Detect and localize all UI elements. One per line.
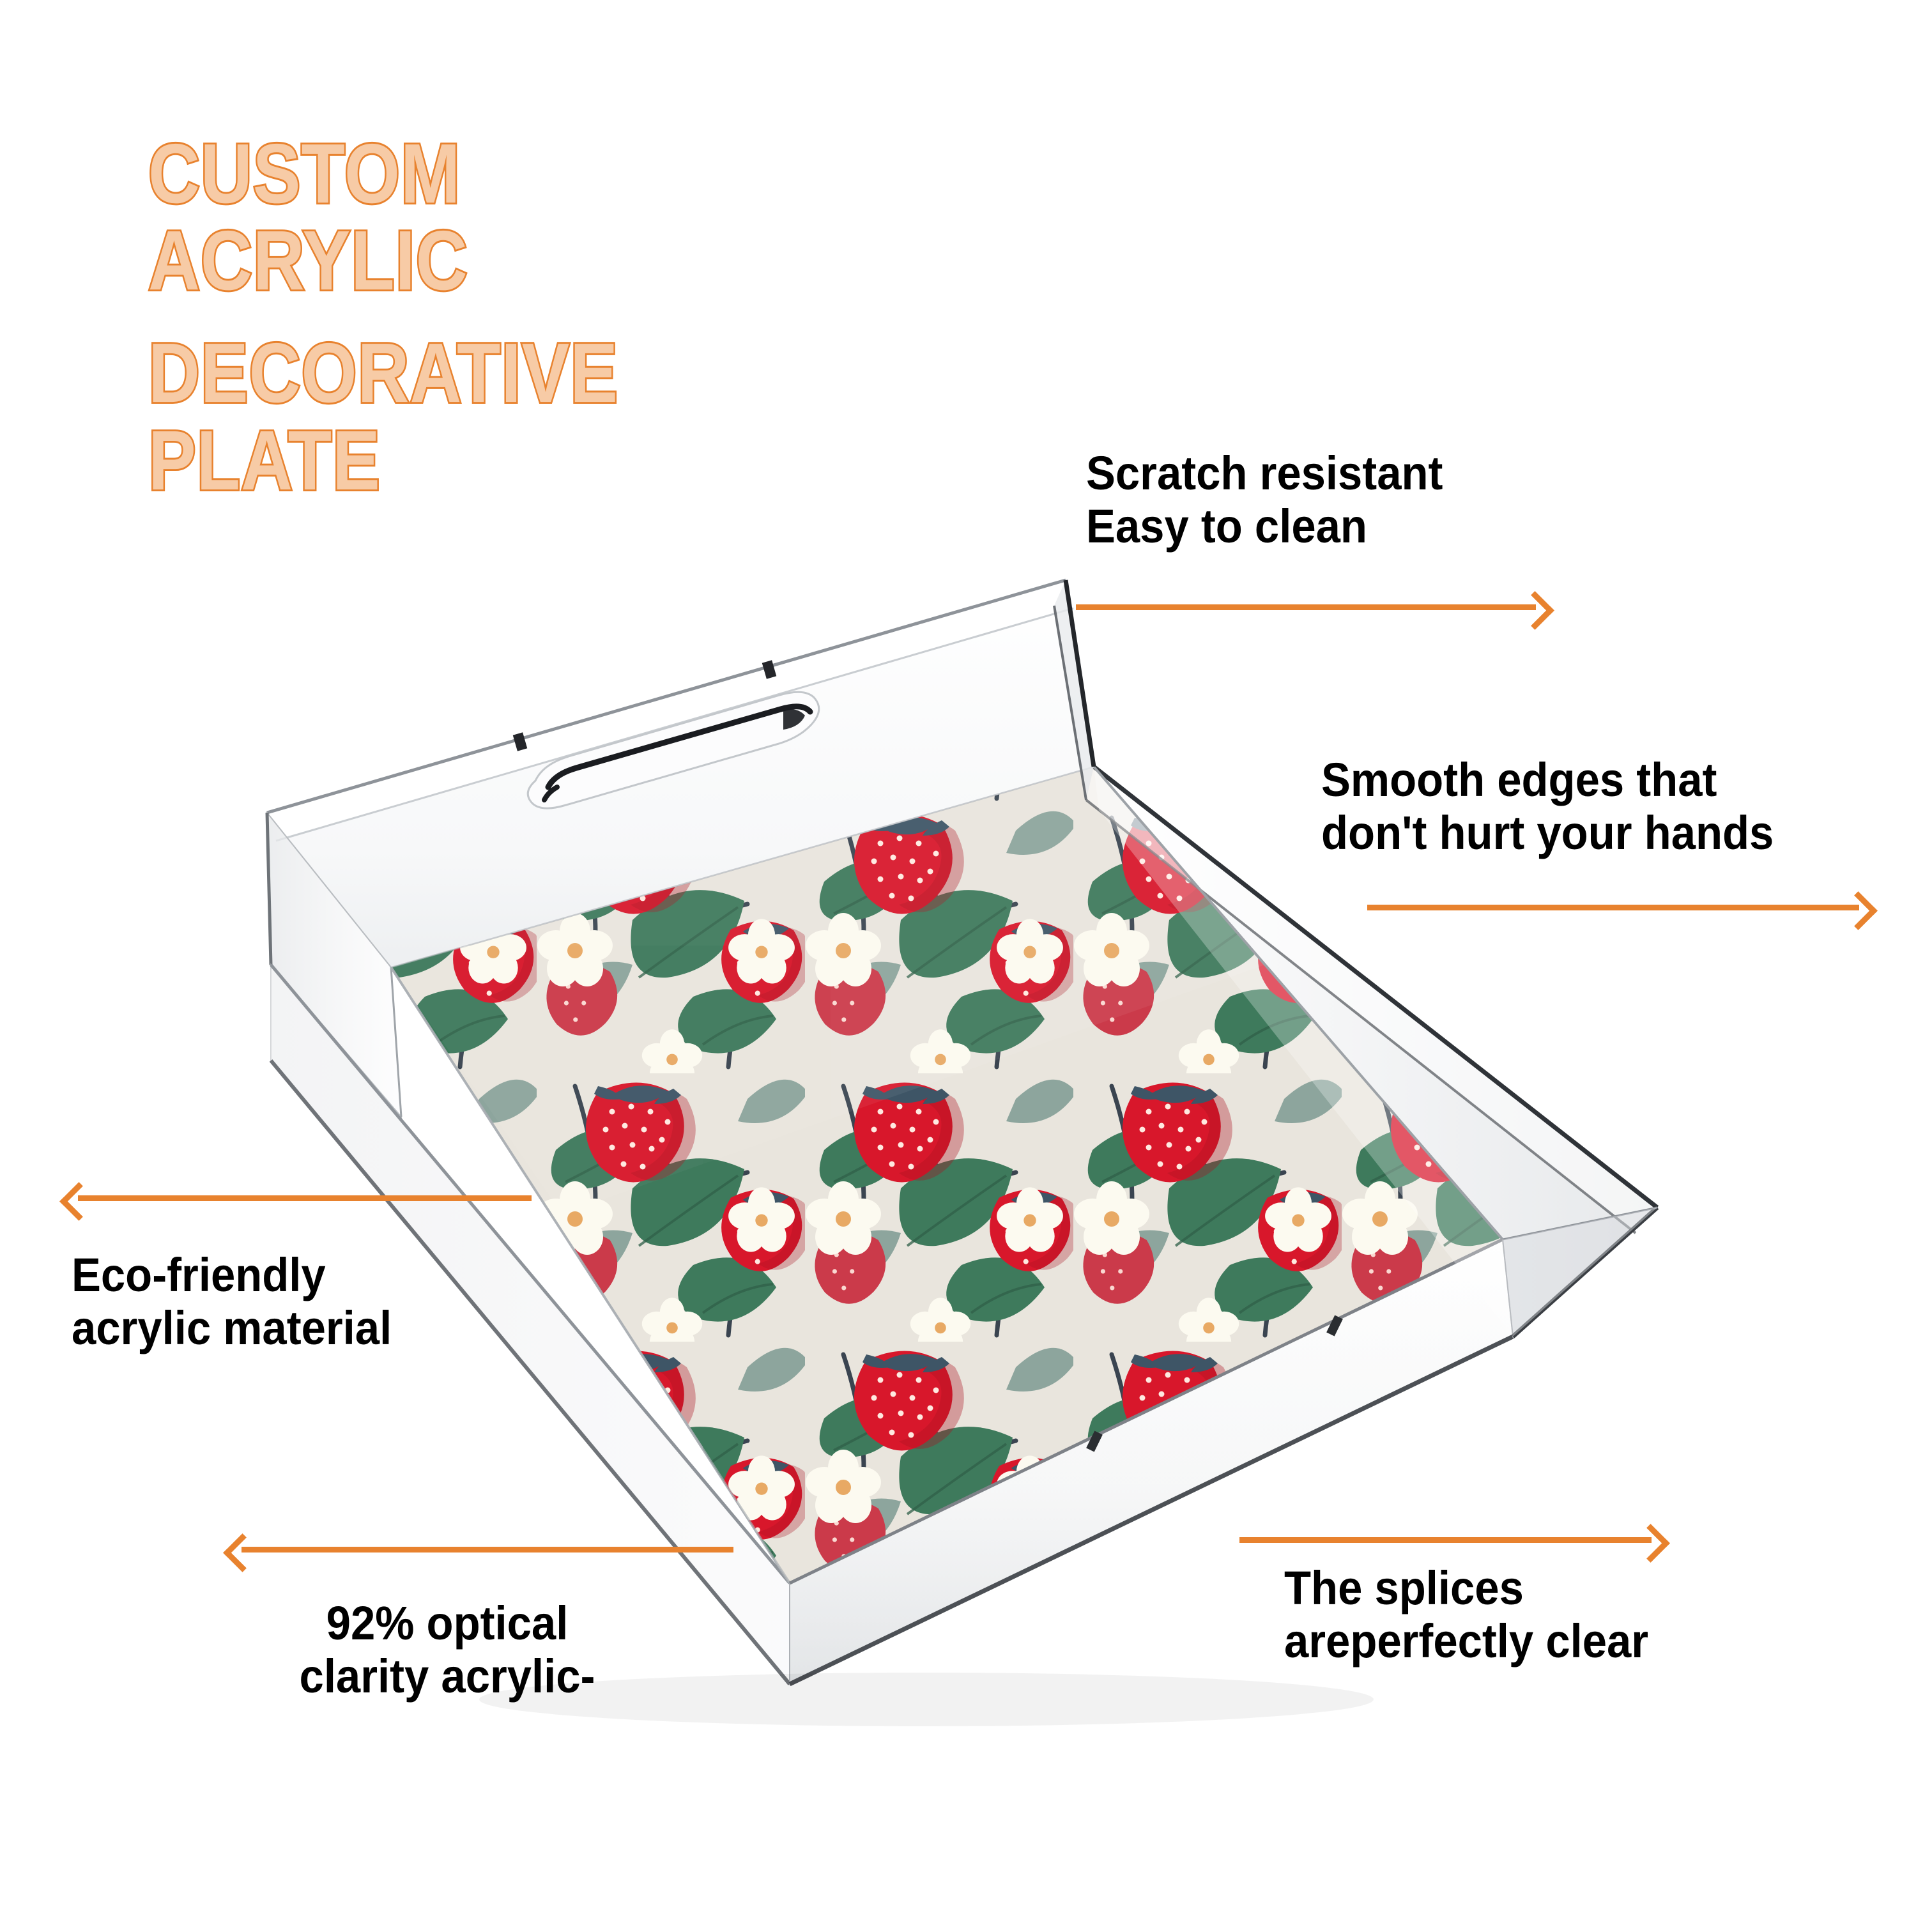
title-line-3: DECORATIVE [148,330,915,417]
callout-splices-clear: The splices areperfectly clear [1284,1562,1648,1668]
callout-scratch-resistant-line2: Easy to clean [1086,500,1443,553]
callout-scratch-resistant-line1: Scratch resistant [1086,447,1443,500]
callout-scratch-resistant: Scratch resistant Easy to clean [1086,447,1443,553]
arrow-splices-clear [1239,1527,1664,1552]
tray-shadow [479,1673,1374,1726]
tray-handle-cutout [528,692,819,808]
callout-splices-clear-line2: areperfectly clear [1284,1615,1648,1668]
tray-back-wall [267,580,1094,967]
page-title: CUSTOM ACRYLIC DECORATIVE PLATE [148,131,915,505]
callout-splices-clear-line1: The splices [1284,1562,1648,1615]
callout-smooth-edges-line2: don't hurt your hands [1321,807,1774,860]
callout-optical-clarity: 92% optical clarity acrylic- [300,1597,595,1703]
arrow-optical-clarity [229,1537,733,1562]
title-line-4: PLATE [148,418,915,504]
callout-smooth-edges: Smooth edges that don't hurt your hands [1321,754,1774,860]
tray-left-inner-wall [358,967,790,1597]
arrow-smooth-edges [1367,894,1872,920]
title-line-1: CUSTOM [148,131,915,217]
arrow-eco-friendly [65,1185,532,1211]
callout-eco-friendly-line2: acrylic material [72,1302,392,1355]
callout-eco-friendly-line1: Eco-friendly [72,1249,392,1302]
callout-eco-friendly: Eco-friendly acrylic material [72,1249,392,1355]
arrow-scratch-resistant [1076,594,1549,620]
callout-smooth-edges-line1: Smooth edges that [1321,754,1774,807]
tray-left-wall [267,813,401,1117]
callout-optical-clarity-line1: 92% optical [300,1597,595,1650]
callout-optical-clarity-line2: clarity acrylic- [300,1650,595,1703]
tray-floor-outline [391,767,1503,1583]
title-line-2: ACRYLIC [148,218,915,304]
tray-corner-thickness [1503,1207,1657,1337]
infographic-canvas: CUSTOM ACRYLIC DECORATIVE PLATE Scratch … [0,0,1932,1932]
